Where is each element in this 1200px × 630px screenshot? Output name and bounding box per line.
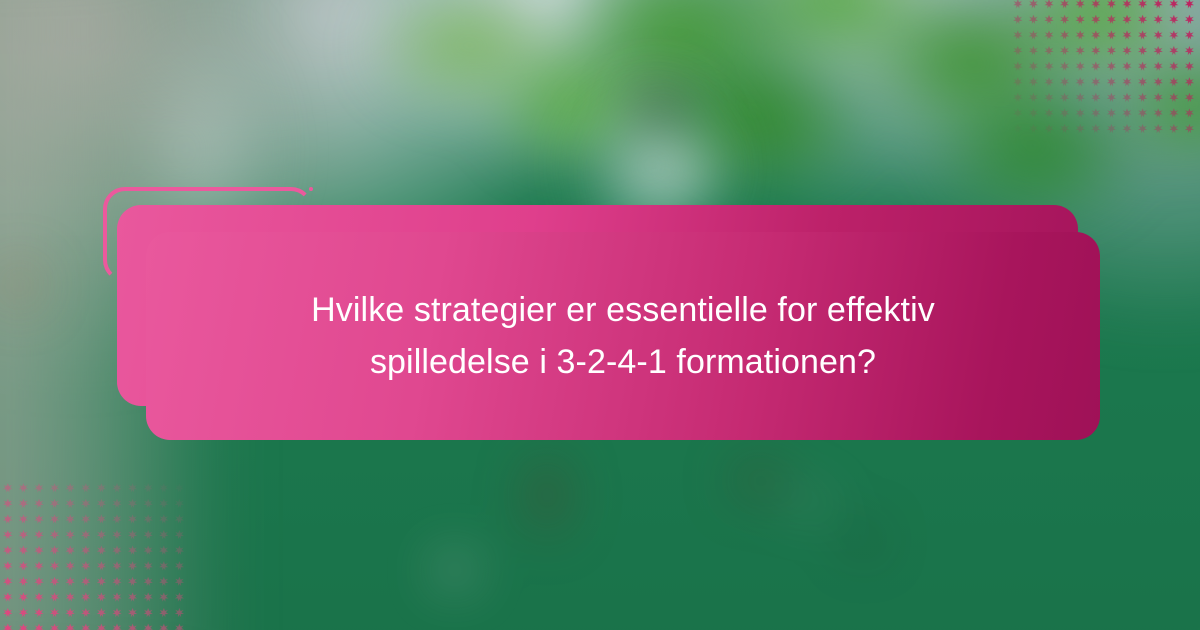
headline-card: Hvilke strategier er essentielle for eff… bbox=[146, 232, 1100, 440]
poster-canvas: Hvilke strategier er essentielle for eff… bbox=[0, 0, 1200, 630]
page-title: Hvilke strategier er essentielle for eff… bbox=[233, 284, 1013, 388]
